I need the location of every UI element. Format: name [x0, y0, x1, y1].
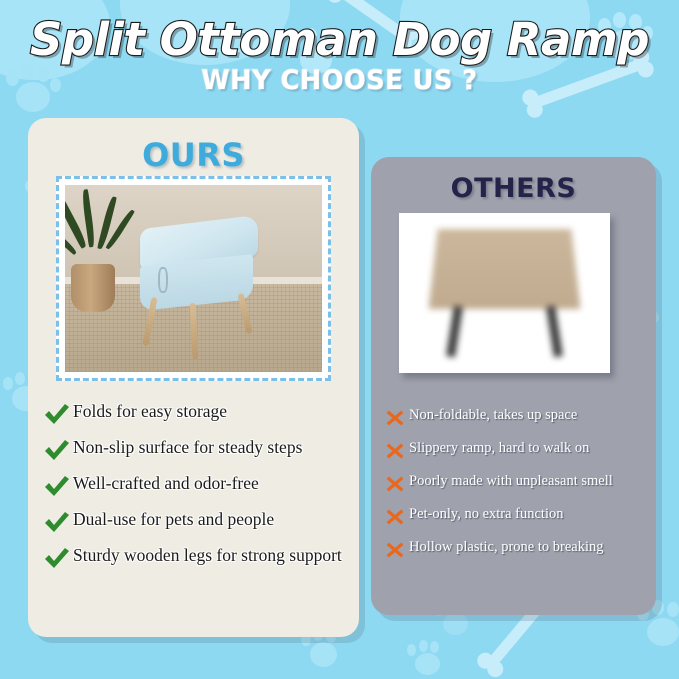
list-item-label: Folds for easy storage [73, 401, 227, 422]
list-item: Sturdy wooden legs for strong support [44, 545, 349, 571]
paw-print-icon [406, 640, 446, 678]
green-check-icon [44, 511, 70, 535]
orange-x-icon [385, 474, 405, 494]
ours-panel: OURS [28, 118, 359, 637]
list-item: Poorly made with unpleasant smell [385, 473, 650, 494]
list-item-label: Slippery ramp, hard to walk on [409, 440, 589, 457]
ours-feature-list: Folds for easy storage Non-slip surface … [44, 401, 349, 581]
list-item-label: Poorly made with unpleasant smell [409, 473, 613, 490]
list-item: Non-slip surface for steady steps [44, 437, 349, 463]
infographic-root: Split Ottoman Dog Ramp WHY CHOOSE US ? O… [0, 0, 679, 679]
list-item-label: Hollow plastic, prone to breaking [409, 539, 604, 556]
list-item-label: Sturdy wooden legs for strong support [73, 545, 342, 566]
green-check-icon [44, 547, 70, 571]
orange-x-icon [385, 441, 405, 461]
green-check-icon [44, 439, 70, 463]
list-item-label: Non-foldable, takes up space [409, 407, 577, 424]
list-item: Non-foldable, takes up space [385, 407, 650, 428]
list-item: Slippery ramp, hard to walk on [385, 440, 650, 461]
page-title: Split Ottoman Dog Ramp [0, 16, 679, 63]
list-item-label: Pet-only, no extra function [409, 506, 564, 523]
page-subtitle: WHY CHOOSE US ? [17, 65, 662, 96]
header: Split Ottoman Dog Ramp WHY CHOOSE US ? [0, 0, 679, 96]
others-feature-list: Non-foldable, takes up space Slippery ra… [385, 407, 650, 572]
others-panel: OTHERS Non-foldable, takes up space Slip… [371, 157, 656, 615]
orange-x-icon [385, 540, 405, 560]
list-item: Folds for easy storage [44, 401, 349, 427]
others-heading: OTHERS [371, 173, 656, 204]
green-check-icon [44, 403, 70, 427]
ours-product-photo [56, 176, 331, 381]
list-item-label: Dual-use for pets and people [73, 509, 274, 530]
list-item: Dual-use for pets and people [44, 509, 349, 535]
green-check-icon [44, 475, 70, 499]
list-item: Hollow plastic, prone to breaking [385, 539, 650, 560]
list-item: Pet-only, no extra function [385, 506, 650, 527]
ours-heading: OURS [28, 136, 359, 174]
list-item-label: Well-crafted and odor-free [73, 473, 259, 494]
list-item-label: Non-slip surface for steady steps [73, 437, 302, 458]
orange-x-icon [385, 507, 405, 527]
list-item: Well-crafted and odor-free [44, 473, 349, 499]
others-product-photo [399, 213, 610, 373]
orange-x-icon [385, 408, 405, 428]
